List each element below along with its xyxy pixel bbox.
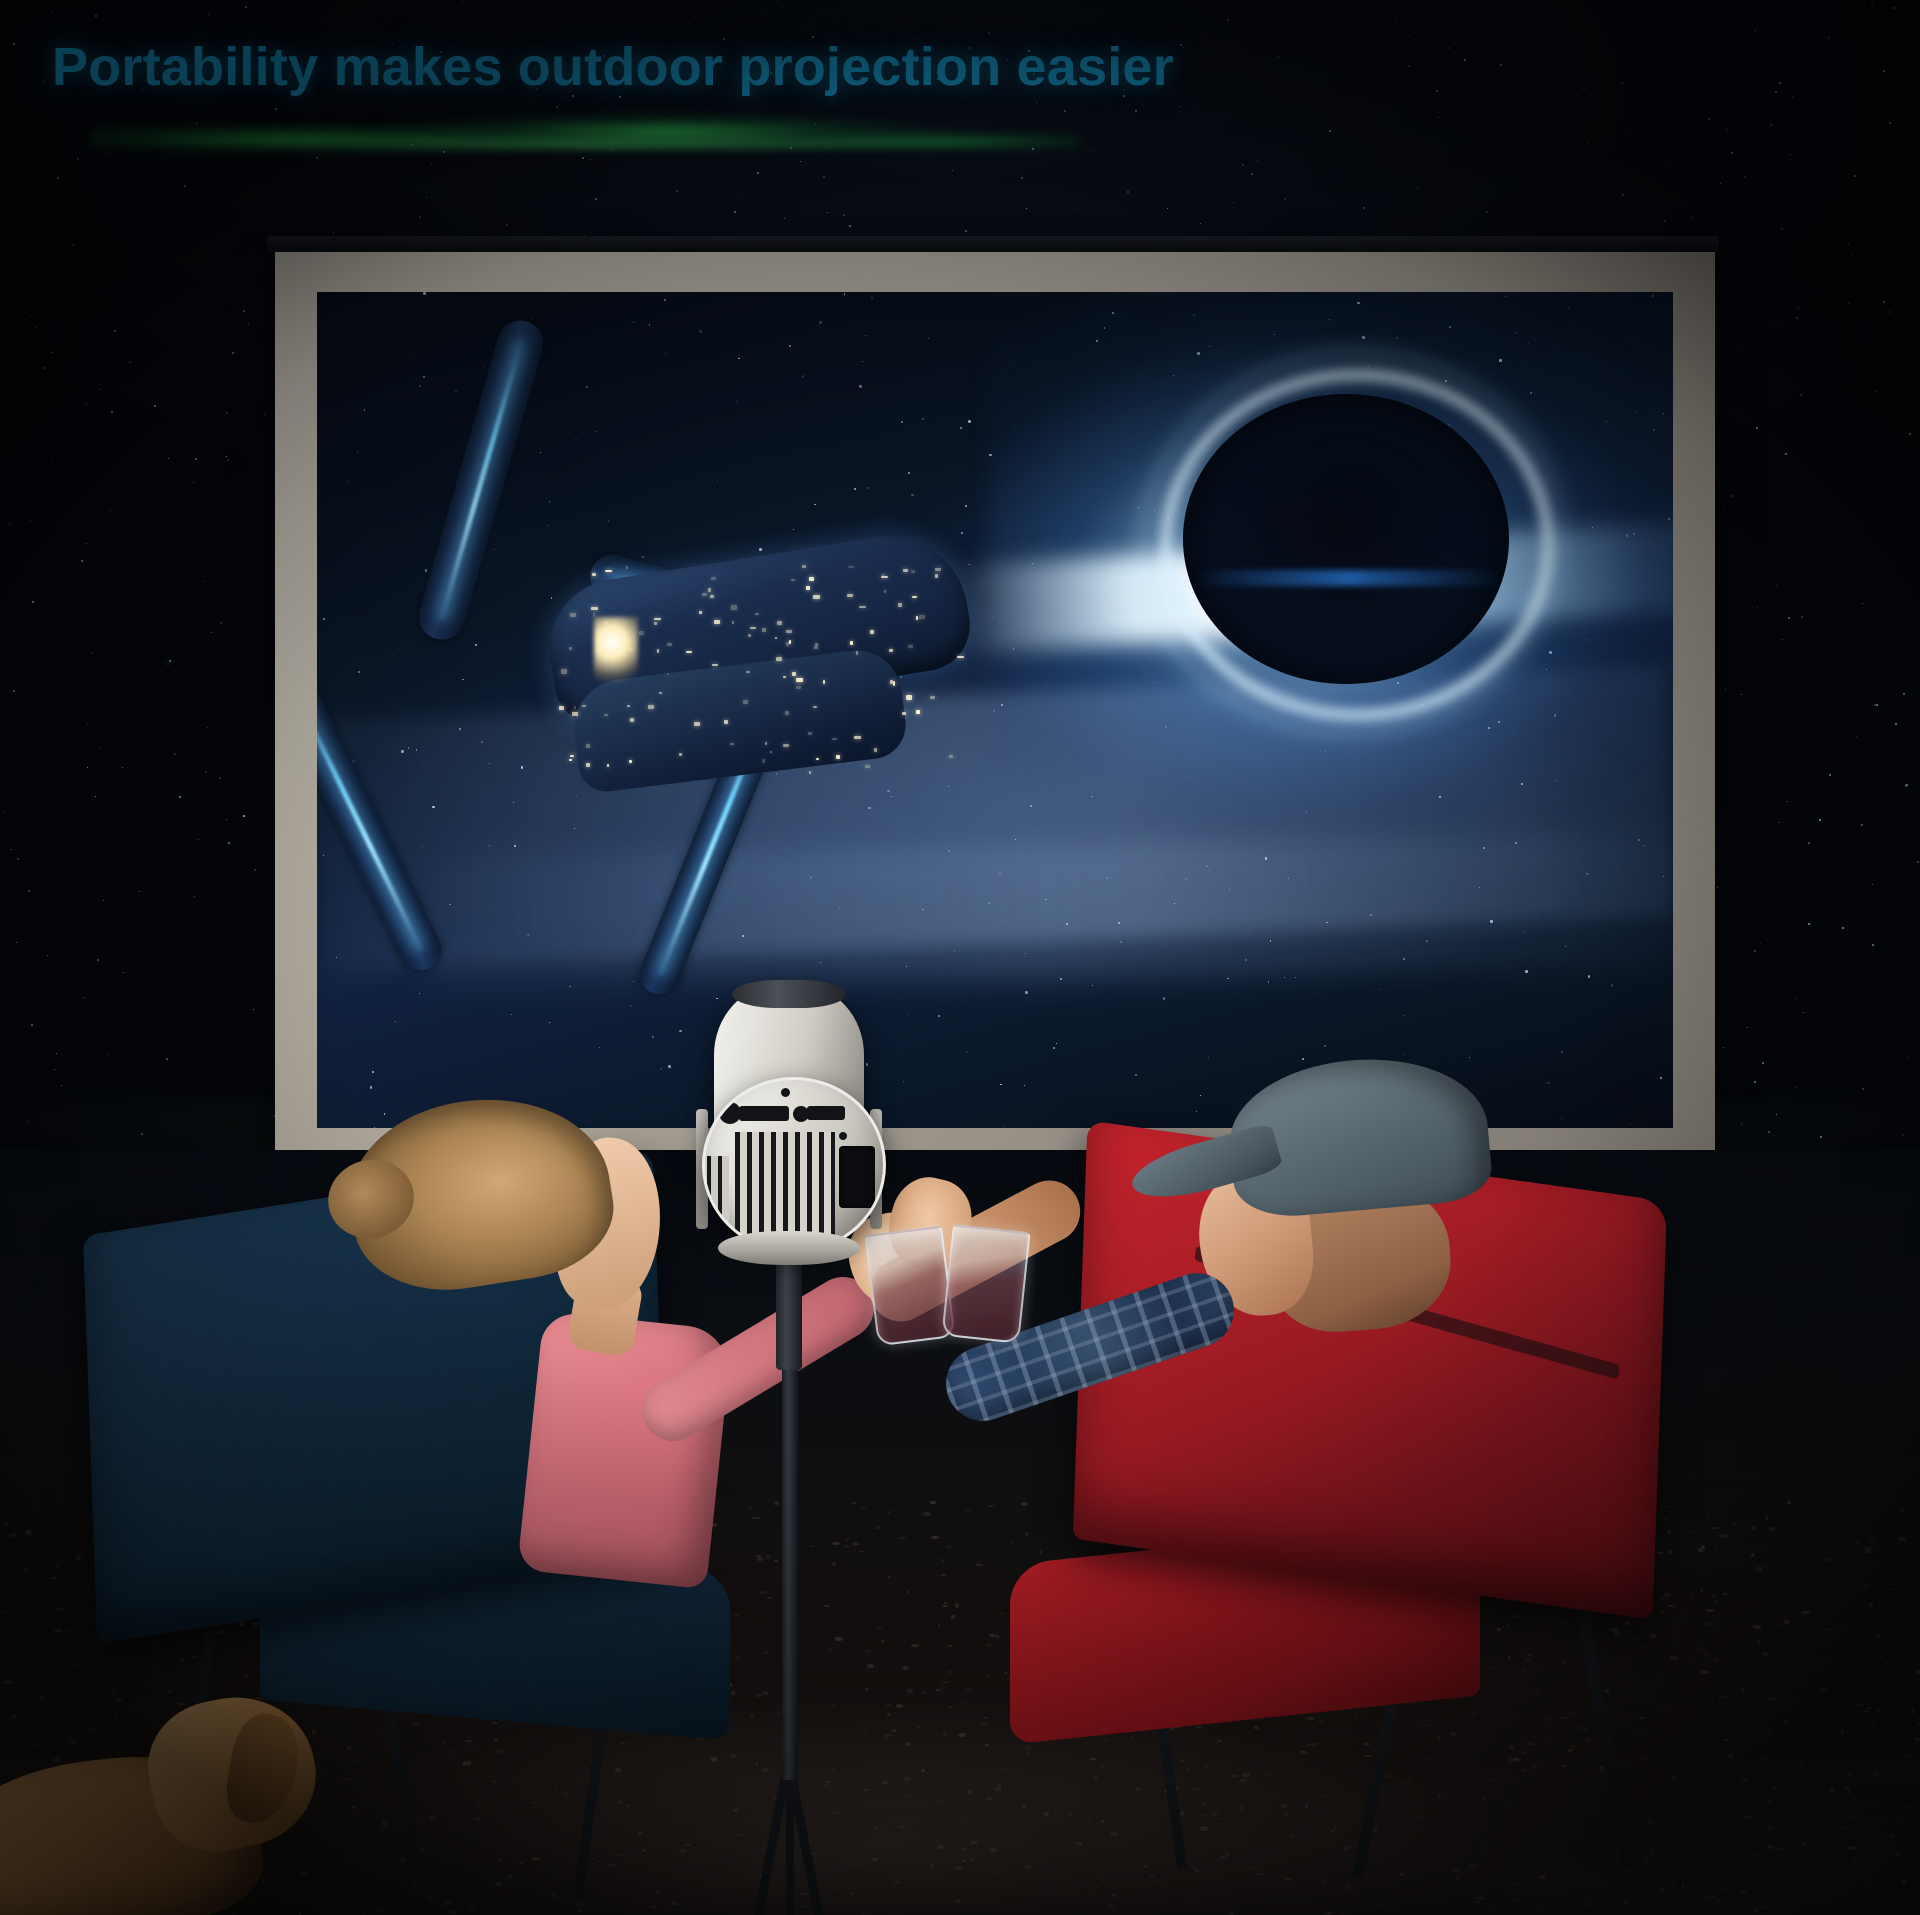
projection-lens xyxy=(839,1146,875,1208)
cooling-vents xyxy=(735,1132,835,1242)
usb-port[interactable] xyxy=(807,1106,845,1120)
black-hole-horizon-band xyxy=(1195,570,1501,586)
spacecraft-wing-upper-left xyxy=(414,315,549,645)
person-woman xyxy=(60,1180,780,1740)
cooling-vents-side xyxy=(707,1156,729,1226)
screen-canvas xyxy=(317,292,1673,1128)
projector-tripod-stand xyxy=(694,1250,884,1890)
person-man xyxy=(1020,1080,1720,1640)
projector-base xyxy=(718,1231,860,1265)
hdmi-port[interactable] xyxy=(739,1106,789,1121)
status-led-icon xyxy=(839,1132,847,1140)
spacecraft xyxy=(398,325,1038,1025)
spacecraft-headlight xyxy=(594,617,638,689)
tripod-leg xyxy=(786,1760,794,1915)
black-hole xyxy=(1137,342,1567,762)
sensor-icon xyxy=(781,1088,790,1097)
portable-projector[interactable] xyxy=(694,985,884,1285)
projector-front-panel xyxy=(702,1077,886,1253)
product-marketing-scene: Portability makes outdoor projection eas… xyxy=(0,0,1920,1915)
toasting-glasses xyxy=(865,1228,1065,1368)
tripod-lower-column xyxy=(782,1360,798,1780)
screen-frame xyxy=(275,252,1715,1168)
power-indicator-icon xyxy=(719,1102,741,1124)
glass-right xyxy=(941,1224,1030,1344)
projector-top-cap xyxy=(732,980,846,1008)
dog xyxy=(0,1690,400,1915)
black-hole-core xyxy=(1183,394,1509,684)
projection-screen xyxy=(275,246,1715,1176)
page-title: Portability makes outdoor projection eas… xyxy=(52,36,1174,98)
screen-top-bar xyxy=(267,236,1719,252)
